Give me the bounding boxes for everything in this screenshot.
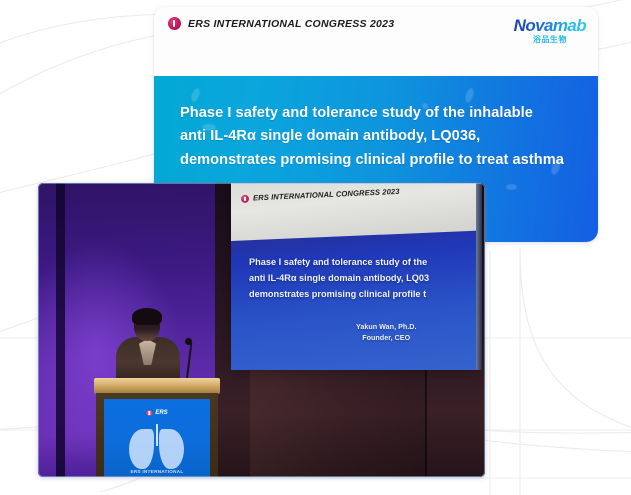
podium-screen: ERS ERS INTERNATIONAL: [104, 399, 210, 477]
congress-title: ERS INTERNATIONAL CONGRESS 2023: [188, 18, 394, 30]
slide-title-line-1: Phase I safety and tolerance study of th…: [180, 102, 580, 125]
decor-bubble: [190, 87, 202, 103]
microphone-head: [185, 338, 192, 345]
projected-title-line-2: anti IL-4Rα single domain antibody, LQ03: [249, 271, 429, 287]
author-name: Yakun Wan, Ph.D.: [356, 321, 416, 332]
stage-wall-seam: [56, 183, 65, 477]
presentation-photo: ERS INTERNATIONAL CONGRESS 2023 Phase I …: [38, 183, 485, 477]
screen-frame-right: [476, 183, 482, 370]
author-role: Founder, CEO: [356, 332, 416, 343]
slide-title-line-2: anti IL-4Rα single domain antibody, LQ03…: [180, 125, 580, 148]
ers-circle-logo-icon: [146, 410, 152, 416]
decor-bubble: [506, 184, 517, 190]
podium-top: [94, 378, 220, 394]
lung-trachea-shape: [156, 424, 158, 446]
ers-circle-logo-icon: [241, 194, 249, 202]
podium-logo-text: ERS: [155, 410, 167, 416]
projection-screen: ERS INTERNATIONAL CONGRESS 2023 Phase I …: [231, 183, 481, 370]
novamab-logo-icon: Novamab 浴品生物: [514, 17, 586, 44]
slide-card-header: ERS INTERNATIONAL CONGRESS 2023 Novamab …: [154, 7, 598, 76]
projected-title-line-3: demonstrates promising clinical profile …: [249, 287, 429, 303]
projected-title-line-1: Phase I safety and tolerance study of th…: [249, 255, 429, 271]
novamab-chinese-name: 浴品生物: [514, 36, 586, 44]
ers-circle-logo-icon: [168, 17, 181, 30]
slide-title: Phase I safety and tolerance study of th…: [180, 102, 580, 172]
projected-author-block: Yakun Wan, Ph.D. Founder, CEO: [356, 321, 416, 343]
projected-slide-title: Phase I safety and tolerance study of th…: [249, 255, 429, 302]
novamab-wordmark: Novamab: [514, 17, 586, 34]
lung-right-shape: [159, 429, 184, 469]
lung-left-shape: [129, 429, 154, 469]
speaker-glasses: [136, 324, 158, 330]
speaker-hair: [132, 308, 162, 325]
ers-lungs-logo-icon: ERS: [146, 410, 167, 416]
slide-title-line-3: demonstrates promising clinical profile …: [180, 149, 580, 172]
podium-caption: ERS INTERNATIONAL: [104, 469, 210, 474]
